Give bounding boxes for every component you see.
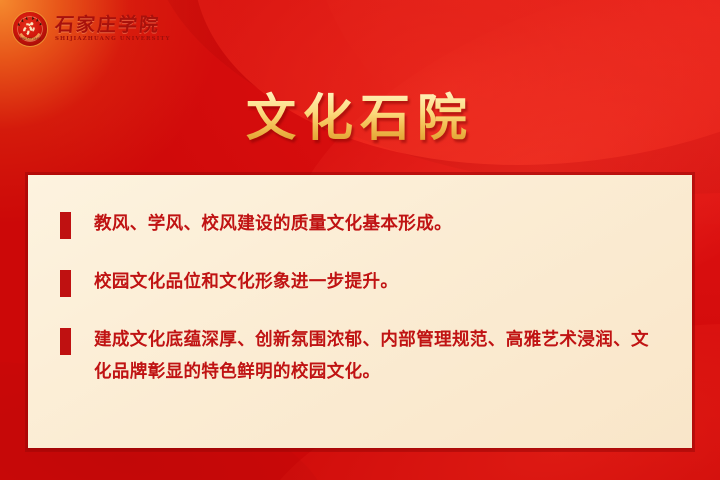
list-item: 教风、学风、校风建设的质量文化基本形成。 [60,209,662,241]
bullet-text: 校园文化品位和文化形象进一步提升。 [94,267,398,299]
bullet-text: 教风、学风、校风建设的质量文化基本形成。 [94,209,452,241]
bullet-text: 建成文化底蕴深厚、创新氛围浓郁、内部管理规范、高雅艺术浸润、文化品牌彰显的特色鲜… [94,325,662,389]
red-bar-bullet-icon [60,270,71,297]
brand-text: 石家庄学院 SHIJIAZHUANG UNIVERSITY [55,15,171,42]
slide-title: 文化石院 [0,78,720,150]
content-panel: 教风、学风、校风建设的质量文化基本形成。 校园文化品位和文化形象进一步提升。 建… [28,175,692,448]
red-bar-bullet-icon [60,212,71,239]
shijiazhuang-university-emblem-icon: SHIJIAZHUANG [10,9,50,49]
brand-name-en: SHIJIAZHUANG UNIVERSITY [55,37,171,42]
svg-text:SHIJIAZHUANG: SHIJIAZHUANG [19,38,41,41]
bullet-list: 教风、学风、校风建设的质量文化基本形成。 校园文化品位和文化形象进一步提升。 建… [60,209,662,388]
presentation-slide: SHIJIAZHUANG 石家庄学院 SHIJIAZHUANG UNIVERSI… [0,0,720,480]
list-item: 建成文化底蕴深厚、创新氛围浓郁、内部管理规范、高雅艺术浸润、文化品牌彰显的特色鲜… [60,325,662,389]
red-bar-bullet-icon [60,328,71,355]
list-item: 校园文化品位和文化形象进一步提升。 [60,267,662,299]
brand-lockup: SHIJIAZHUANG 石家庄学院 SHIJIAZHUANG UNIVERSI… [10,9,171,49]
brand-name-cn: 石家庄学院 [54,16,171,35]
slide-title-text: 文化石院 [246,89,474,147]
